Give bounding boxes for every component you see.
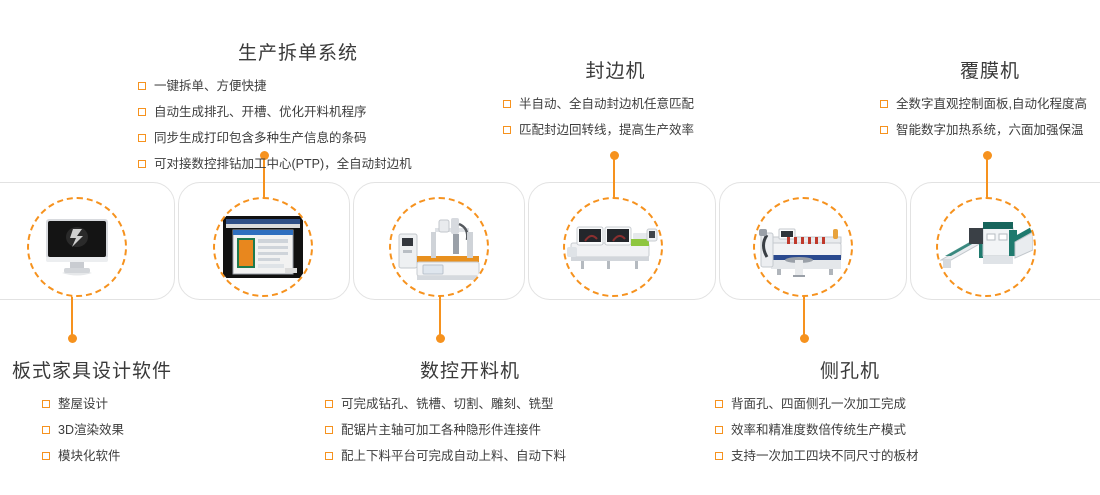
bullet-square-icon bbox=[138, 108, 146, 116]
bullet-square-icon bbox=[503, 126, 511, 134]
connector-dot-edge-banding bbox=[610, 151, 619, 160]
connector-dot-cnc-cutting bbox=[436, 334, 445, 343]
text-block-order-splitting: 生产拆单系统 一键拆单、方便快捷 自动生成排孔、开槽、优化开料机程序 同步生成打… bbox=[138, 38, 458, 176]
bullet-item: 全数字直观控制面板,自动化程度高 bbox=[880, 92, 1100, 116]
bullet-square-icon bbox=[138, 82, 146, 90]
node-side-hole[interactable] bbox=[753, 197, 853, 297]
bullets-design-software: 整屋设计 3D渲染效果 模块化软件 bbox=[42, 392, 212, 468]
bullet-item: 匹配封边回转线，提高生产效率 bbox=[503, 118, 728, 142]
bullet-square-icon bbox=[42, 400, 50, 408]
connector-dot-design-software bbox=[68, 334, 77, 343]
bullet-item: 一键拆单、方便快捷 bbox=[138, 74, 458, 98]
connector-laminating bbox=[986, 155, 988, 200]
bullet-square-icon bbox=[325, 400, 333, 408]
text-block-laminating: 覆膜机 全数字直观控制面板,自动化程度高 智能数字加热系统，六面加强保温 bbox=[880, 56, 1100, 142]
connector-edge-banding bbox=[613, 155, 615, 200]
connector-design-software bbox=[71, 293, 73, 338]
bullet-square-icon bbox=[715, 400, 723, 408]
title-order-splitting: 生产拆单系统 bbox=[138, 38, 458, 65]
text-block-cnc-cutting: 数控开料机 可完成钻孔、铣槽、切割、雕刻、铣型 配锯片主轴可加工各种隐形件连接件… bbox=[325, 356, 615, 468]
node-cnc-cutting[interactable] bbox=[389, 197, 489, 297]
bullet-square-icon bbox=[42, 426, 50, 434]
bullets-laminating: 全数字直观控制面板,自动化程度高 智能数字加热系统，六面加强保温 bbox=[880, 92, 1100, 142]
text-block-edge-banding: 封边机 半自动、全自动封边机任意匹配 匹配封边回转线，提高生产效率 bbox=[503, 56, 728, 142]
bullet-square-icon bbox=[325, 452, 333, 460]
node-order-splitting[interactable] bbox=[213, 197, 313, 297]
bullet-item: 可对接数控排钻加工中心(PTP)，全自动封边机 bbox=[138, 152, 458, 176]
bullet-item: 同步生成打印包含多种生产信息的条码 bbox=[138, 126, 458, 150]
bullet-square-icon bbox=[138, 160, 146, 168]
bullet-item: 半自动、全自动封边机任意匹配 bbox=[503, 92, 728, 116]
bullet-item: 配锯片主轴可加工各种隐形件连接件 bbox=[325, 418, 615, 442]
node-design-software[interactable] bbox=[27, 197, 127, 297]
laminating-machine-icon bbox=[939, 216, 1033, 278]
cad-software-screen-icon bbox=[223, 216, 303, 278]
bullet-square-icon bbox=[325, 426, 333, 434]
title-side-hole: 侧孔机 bbox=[715, 356, 985, 383]
connector-dot-side-hole bbox=[800, 334, 809, 343]
bullet-item: 背面孔、四面侧孔一次加工完成 bbox=[715, 392, 985, 416]
title-laminating: 覆膜机 bbox=[880, 56, 1100, 83]
bullet-item: 支持一次加工四块不同尺寸的板材 bbox=[715, 444, 985, 468]
bullets-order-splitting: 一键拆单、方便快捷 自动生成排孔、开槽、优化开料机程序 同步生成打印包含多种生产… bbox=[138, 74, 458, 176]
text-block-design-software: 板式家具设计软件 整屋设计 3D渲染效果 模块化软件 bbox=[12, 356, 212, 468]
bullets-edge-banding: 半自动、全自动封边机任意匹配 匹配封边回转线，提高生产效率 bbox=[503, 92, 728, 142]
title-design-software: 板式家具设计软件 bbox=[12, 356, 212, 383]
side-drilling-machine-icon bbox=[757, 211, 849, 283]
desktop-computer-icon bbox=[40, 215, 114, 279]
bullet-item: 模块化软件 bbox=[42, 444, 212, 468]
bullet-item: 自动生成排孔、开槽、优化开料机程序 bbox=[138, 100, 458, 124]
bullet-square-icon bbox=[138, 134, 146, 142]
node-laminating[interactable] bbox=[936, 197, 1036, 297]
title-cnc-cutting: 数控开料机 bbox=[325, 356, 615, 383]
bullet-item: 可完成钻孔、铣槽、切割、雕刻、铣型 bbox=[325, 392, 615, 416]
node-edge-banding[interactable] bbox=[563, 197, 663, 297]
bullet-square-icon bbox=[42, 452, 50, 460]
connector-cnc-cutting bbox=[439, 293, 441, 338]
text-block-side-hole: 侧孔机 背面孔、四面侧孔一次加工完成 效率和精准度数倍传统生产模式 支持一次加工… bbox=[715, 356, 985, 468]
edge-banding-machine-icon bbox=[567, 219, 659, 275]
bullet-item: 3D渲染效果 bbox=[42, 418, 212, 442]
bullet-square-icon bbox=[503, 100, 511, 108]
bullet-item: 智能数字加热系统，六面加强保温 bbox=[880, 118, 1100, 142]
bullet-item: 配上下料平台可完成自动上料、自动下料 bbox=[325, 444, 615, 468]
connector-side-hole bbox=[803, 293, 805, 338]
bullet-square-icon bbox=[880, 126, 888, 134]
connector-dot-laminating bbox=[983, 151, 992, 160]
bullet-square-icon bbox=[715, 452, 723, 460]
infographic-canvas: 生产拆单系统 一键拆单、方便快捷 自动生成排孔、开槽、优化开料机程序 同步生成打… bbox=[0, 0, 1100, 495]
cnc-router-machine-icon bbox=[395, 210, 483, 284]
bullet-item: 效率和精准度数倍传统生产模式 bbox=[715, 418, 985, 442]
bullets-side-hole: 背面孔、四面侧孔一次加工完成 效率和精准度数倍传统生产模式 支持一次加工四块不同… bbox=[715, 392, 985, 468]
bullet-square-icon bbox=[880, 100, 888, 108]
bullet-item: 整屋设计 bbox=[42, 392, 212, 416]
bullets-cnc-cutting: 可完成钻孔、铣槽、切割、雕刻、铣型 配锯片主轴可加工各种隐形件连接件 配上下料平… bbox=[325, 392, 615, 468]
bullet-square-icon bbox=[715, 426, 723, 434]
title-edge-banding: 封边机 bbox=[503, 56, 728, 83]
